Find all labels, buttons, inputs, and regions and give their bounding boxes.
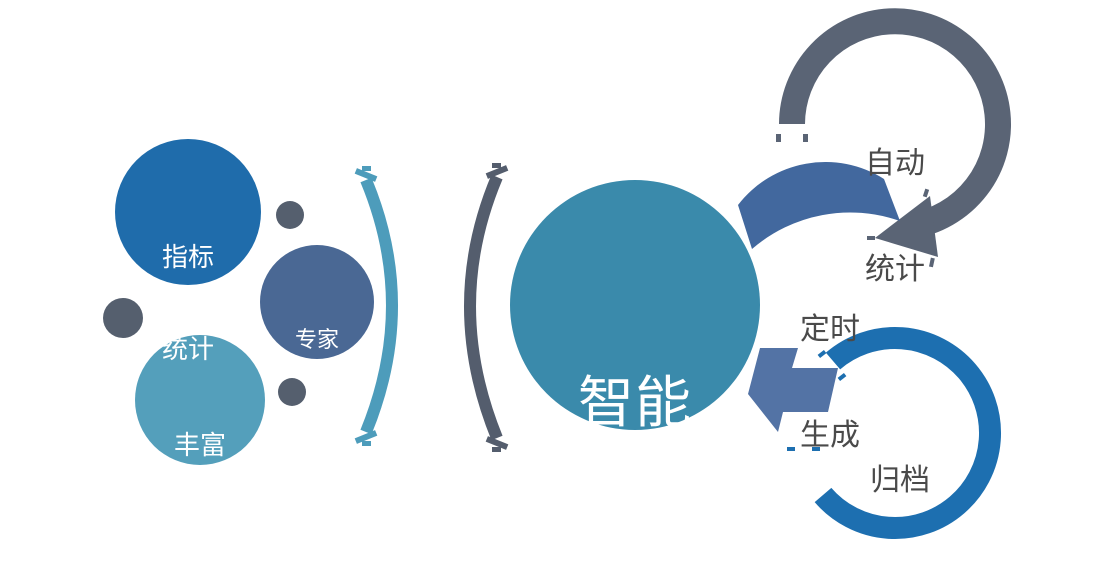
diagram-svg	[0, 0, 1118, 568]
diagram-canvas: 指标 统计 专家 知识 丰富 图表 智能 报告 自动 统计 定时 生成 归档 管…	[0, 0, 1118, 568]
node-circle-zhuanjia-zhishi[interactable]	[260, 245, 374, 359]
node-circle-fengfu-tubiao[interactable]	[135, 335, 265, 465]
node-circle-zhibiao-tongji[interactable]	[115, 139, 261, 285]
arrow-block-to-archive	[748, 348, 838, 432]
ring-auto-statistics[interactable]	[776, 21, 998, 267]
accent-dot-upper	[276, 201, 304, 229]
ring-archive-management[interactable]	[787, 338, 990, 528]
accent-dot-left	[103, 298, 143, 338]
arrow-curved-to-auto-statistics	[738, 162, 900, 249]
accent-dot-lower	[278, 378, 306, 406]
bracket-arc-slate	[470, 163, 508, 452]
ring-end-cap-auto	[776, 134, 808, 142]
node-circle-center-report[interactable]	[510, 180, 760, 430]
